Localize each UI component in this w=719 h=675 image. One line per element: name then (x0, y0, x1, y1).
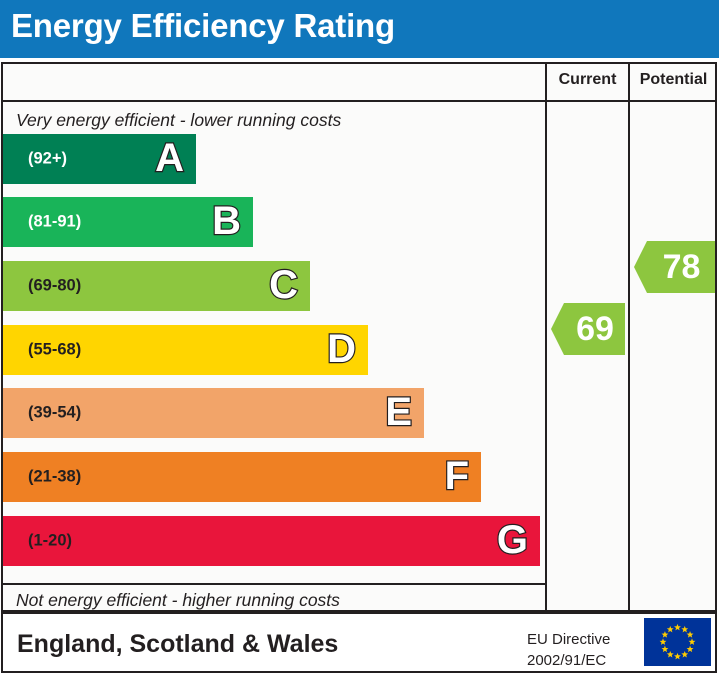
caption-very-efficient: Very energy efficient - lower running co… (16, 110, 341, 131)
band-range-label: (55-68) (28, 341, 81, 360)
band-letter-g: G (497, 520, 528, 560)
band-letter-f: F (445, 456, 469, 496)
directive-line-2: 2002/91/EC (527, 650, 637, 671)
band-letter-a: A (155, 138, 184, 178)
band-range-label: (81-91) (28, 213, 81, 232)
band-letter-d: D (327, 329, 356, 369)
band-c: (69-80)C (3, 261, 310, 311)
band-g: (1-20)G (3, 516, 540, 566)
band-range-label: (39-54) (28, 404, 81, 423)
band-range-label: (1-20) (28, 532, 72, 551)
current-rating-value: 69 (576, 310, 614, 349)
header-divider (1, 100, 717, 102)
band-letter-e: E (385, 392, 412, 432)
band-range-label: (92+) (28, 150, 67, 169)
directive-line-1: EU Directive (527, 629, 637, 650)
potential-rating-value: 78 (663, 248, 701, 287)
footer-directive: EU Directive 2002/91/EC (527, 629, 637, 672)
eu-flag-icon (644, 618, 711, 666)
column-separator-current (545, 62, 547, 612)
column-separator-potential (628, 62, 630, 612)
chart-title-bar: Energy Efficiency Rating (0, 0, 719, 58)
band-d: (55-68)D (3, 325, 368, 375)
rating-bands: (92+)A(81-91)B(69-80)C(55-68)D(39-54)E(2… (3, 134, 543, 580)
band-b: (81-91)B (3, 197, 253, 247)
band-range-label: (21-38) (28, 468, 81, 487)
chart-footer: England, Scotland & Wales EU Directive 2… (1, 612, 717, 673)
footer-region-label: England, Scotland & Wales (17, 630, 338, 659)
band-f: (21-38)F (3, 452, 481, 502)
band-letter-b: B (212, 201, 241, 241)
potential-rating-arrow: 78 (634, 241, 715, 293)
page-title: Energy Efficiency Rating (11, 7, 395, 45)
band-a: (92+)A (3, 134, 196, 184)
energy-efficiency-rating-chart: Energy Efficiency Rating Current Potenti… (0, 0, 719, 675)
current-rating-arrow: 69 (551, 303, 625, 355)
band-letter-c: C (269, 265, 298, 305)
band-e: (39-54)E (3, 388, 424, 438)
caption-not-efficient: Not energy efficient - higher running co… (16, 590, 340, 611)
band-range-label: (69-80) (28, 277, 81, 296)
eu-stars (644, 618, 711, 666)
caption-divider (1, 583, 545, 585)
column-header-current: Current (547, 71, 628, 89)
column-header-potential: Potential (630, 71, 717, 89)
